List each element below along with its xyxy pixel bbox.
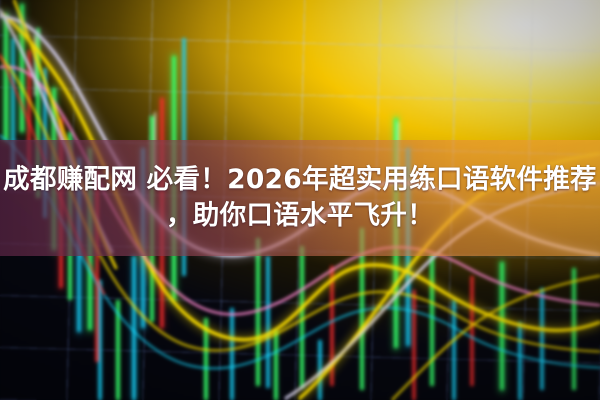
caption-line-2: ，助你口语水平飞升！: [166, 199, 434, 233]
caption-line-1: 成都赚配网 必看！2026年超实用练口语软件推荐: [3, 163, 597, 197]
caption-text-block: 成都赚配网 必看！2026年超实用练口语软件推荐 ，助你口语水平飞升！: [0, 140, 600, 256]
banner-image: 成都赚配网 必看！2026年超实用练口语软件推荐 ，助你口语水平飞升！: [0, 0, 600, 400]
